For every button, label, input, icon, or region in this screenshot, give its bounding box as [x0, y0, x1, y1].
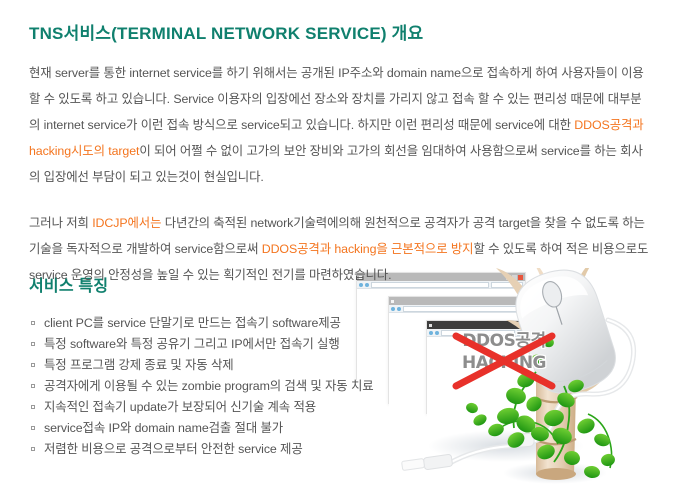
- feature-list-item: 공격자에게 이용될 수 있는 zombie program의 검색 및 자동 치…: [30, 376, 374, 397]
- usb-cable-highlight: [448, 320, 634, 464]
- service-illustration: DDOS공격 HACKING: [340, 268, 680, 500]
- browser-content: [357, 289, 525, 395]
- address-bar: [403, 306, 521, 312]
- browser-toolbar: [427, 329, 547, 337]
- maximize-icon: [544, 299, 549, 304]
- cable-ferrite: [508, 433, 535, 448]
- close-icon: [540, 323, 545, 328]
- maximize-icon: [534, 323, 539, 328]
- feature-list-item-label: 저렴한 비용으로 공격으로부터 안전한 service 제공: [44, 442, 303, 456]
- highlighted-text: DDOS공격과 hacking을 근본적으로 방지: [262, 242, 474, 256]
- square-bullet-icon: [31, 384, 35, 388]
- feature-list-item-label: 공격자에게 이용될 수 있는 zombie program의 검색 및 자동 치…: [44, 379, 374, 393]
- red-cross-icon: [448, 330, 560, 392]
- square-bullet-icon: [31, 363, 35, 367]
- feature-list-item: 저렴한 비용으로 공격으로부터 안전한 service 제공: [30, 439, 374, 460]
- browser-content: [389, 313, 557, 419]
- browser-window-back: [356, 272, 526, 380]
- square-bullet-icon: [31, 405, 35, 409]
- ivy-vines: [465, 335, 617, 479]
- feature-list-item: 특정 software와 특정 공유기 그리고 IP에서만 접속기 실행: [30, 334, 374, 355]
- forward-icon: [397, 307, 401, 311]
- window-controls: [527, 323, 545, 328]
- intro-paragraph-2: 그러나 저희 IDCJP에서는 다년간의 축적된 network기술력에의해 원…: [29, 210, 649, 288]
- feature-list-item-label: 지속적인 접속기 update가 보장되어 신기술 계속 적용: [44, 400, 316, 414]
- feature-list-item: 지속적인 접속기 update가 보장되어 신기술 계속 적용: [30, 397, 374, 418]
- browser-window-middle: [388, 296, 558, 404]
- stamp-line-ddos: DDOS공격: [448, 330, 560, 352]
- mouse-on-bamboo-graphic: [340, 268, 680, 500]
- ddos-hacking-stamp: DDOS공격 HACKING: [448, 330, 560, 392]
- feature-list-item: 특정 프로그램 강제 종료 및 자동 삭제: [30, 355, 374, 376]
- browser-titlebar: [389, 297, 557, 305]
- intro-text-block: 현재 server를 통한 internet service를 하기 위해서는 …: [29, 60, 649, 288]
- square-bullet-icon: [31, 342, 35, 346]
- highlighted-text: IDCJP에서는: [92, 216, 161, 230]
- intro-paragraph-1: 현재 server를 통한 internet service를 하기 위해서는 …: [29, 60, 649, 190]
- feature-list-item-label: service접속 IP와 domain name검출 절대 불가: [44, 421, 283, 435]
- address-bar: [441, 330, 515, 336]
- window-controls: [537, 299, 555, 304]
- browser-titlebar: [427, 321, 547, 329]
- search-bar: [523, 306, 555, 312]
- close-icon: [550, 299, 555, 304]
- square-bullet-icon: [31, 426, 35, 430]
- browser-window-front: [426, 320, 548, 414]
- back-icon: [429, 331, 433, 335]
- stamp-line-hacking: HACKING: [448, 352, 560, 374]
- feature-list-item: client PC를 service 단말기로 만드는 접속기 software…: [30, 313, 374, 334]
- forward-icon: [435, 331, 439, 335]
- search-bar: [517, 330, 545, 336]
- square-bullet-icon: [31, 321, 35, 325]
- bamboo-pole: [496, 268, 608, 480]
- minimize-icon: [528, 323, 533, 328]
- feature-list-item-label: client PC를 service 단말기로 만드는 접속기 software…: [44, 316, 341, 330]
- features-list: client PC를 service 단말기로 만드는 접속기 software…: [30, 313, 374, 460]
- browser-content: [427, 337, 547, 429]
- browser-toolbar: [389, 305, 557, 313]
- page-title: TNS서비스(TERMINAL NETWORK SERVICE) 개요: [29, 19, 423, 44]
- ground-shadow-2: [503, 462, 607, 484]
- feature-list-item-label: 특정 프로그램 강제 종료 및 자동 삭제: [44, 358, 234, 372]
- titlebar-icon: [391, 300, 394, 303]
- ground-shadow: [428, 430, 584, 462]
- body-text: 그러나 저희: [29, 216, 92, 230]
- titlebar-icon: [429, 324, 432, 327]
- square-bullet-icon: [31, 447, 35, 451]
- computer-mouse: [507, 268, 623, 402]
- feature-list-item-label: 특정 software와 특정 공유기 그리고 IP에서만 접속기 실행: [44, 337, 340, 351]
- body-text: 현재 server를 통한 internet service를 하기 위해서는 …: [29, 66, 644, 132]
- back-icon: [391, 307, 395, 311]
- usb-cable: [448, 320, 634, 464]
- minimize-icon: [538, 299, 543, 304]
- usb-connector-tip: [402, 459, 425, 471]
- feature-list-item: service접속 IP와 domain name검출 절대 불가: [30, 418, 374, 439]
- usb-connector: [423, 454, 452, 470]
